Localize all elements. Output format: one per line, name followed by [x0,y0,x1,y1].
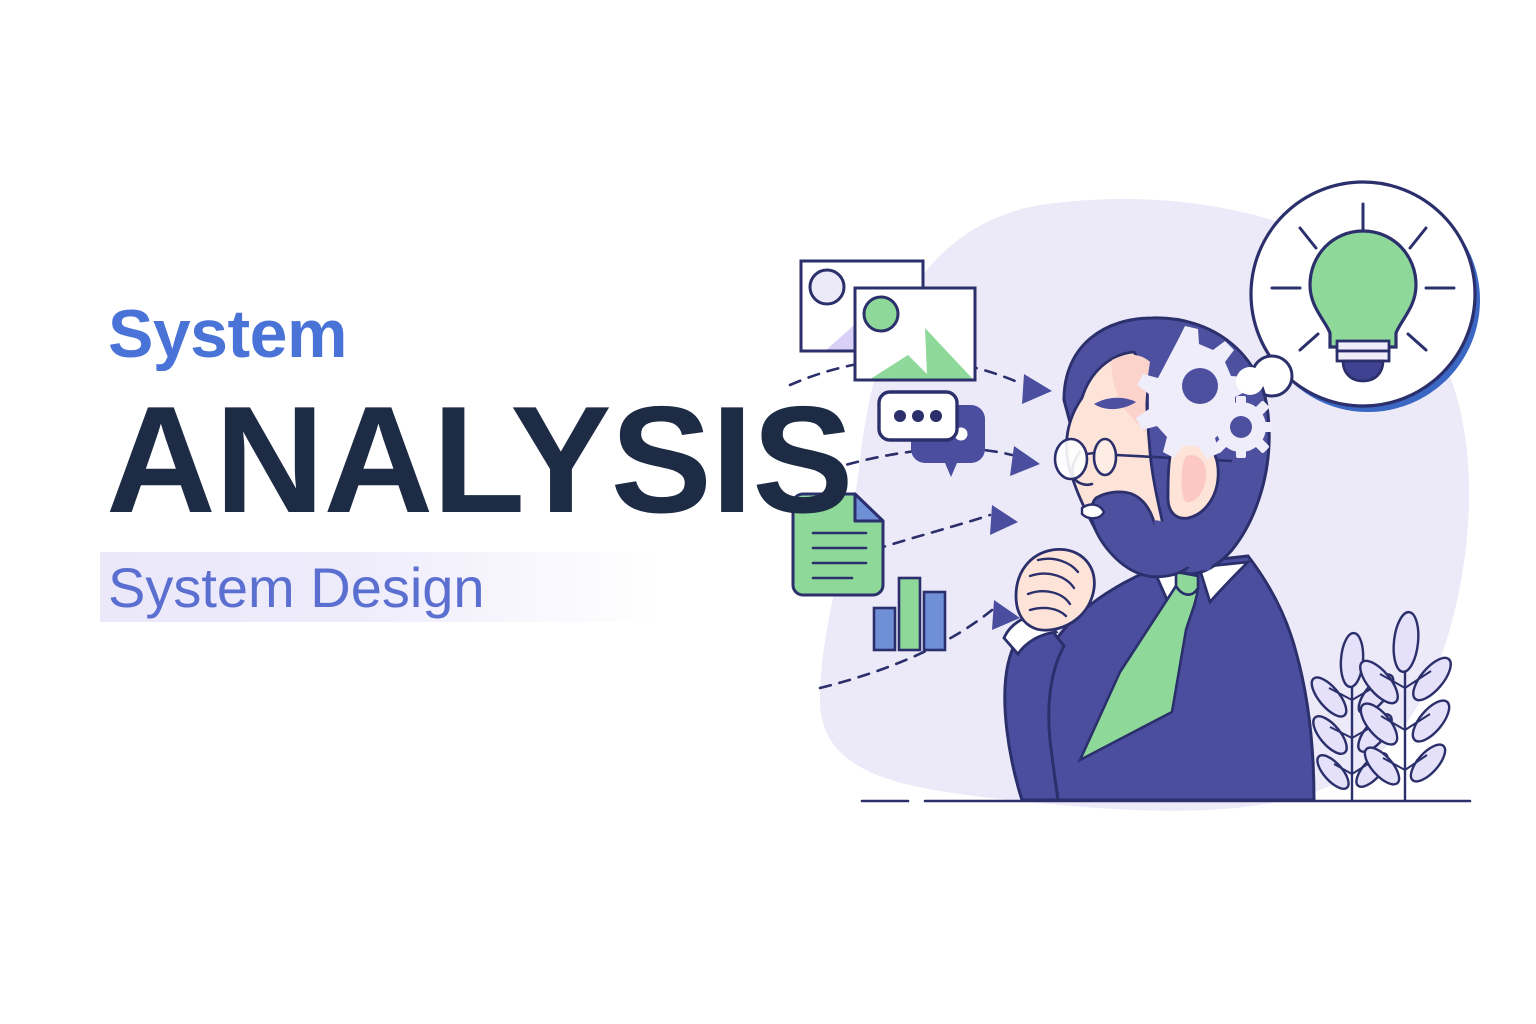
gear-dot-icon [1236,367,1264,395]
page-title-eyebrow: System [0,300,880,368]
lightbulb-thought-bubble [1251,182,1480,412]
headline-block: System ANALYSIS System Design [0,300,880,626]
page-subtitle: System Design [108,555,485,620]
chat-bubble-front-icon [879,392,957,440]
banner-canvas: System ANALYSIS System Design [0,0,1536,1024]
gear-small-icon [1210,396,1272,458]
page-title: ANALYSIS [0,378,880,542]
subtitle-row: System Design [0,548,880,626]
